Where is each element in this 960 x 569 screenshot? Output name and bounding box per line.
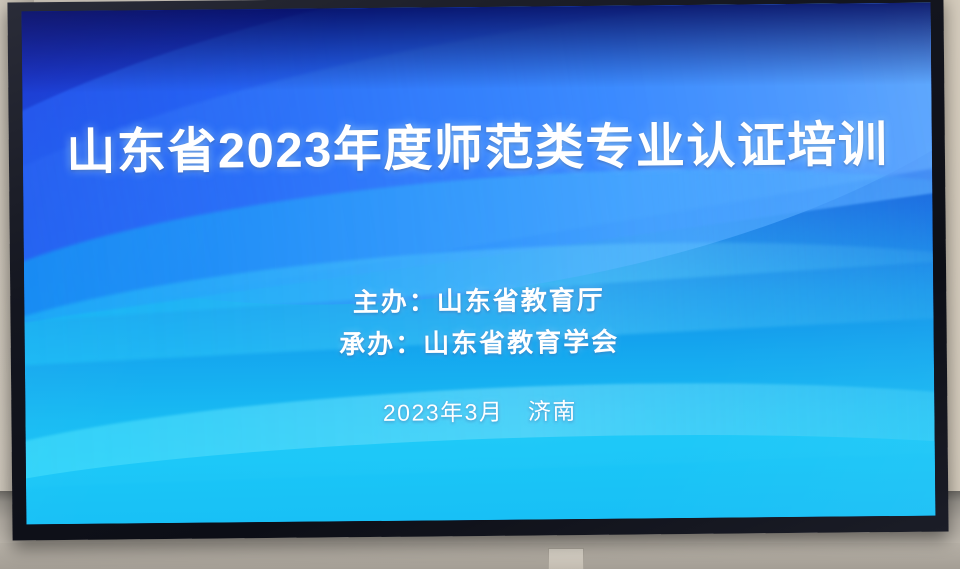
slide-content: 山东省2023年度师范类专业认证培训 主办：山东省教育厅 承办：山东省教育学会 … — [22, 3, 936, 525]
slide-title: 山东省2023年度师范类专业认证培训 — [23, 121, 932, 179]
wall-baseboard — [0, 543, 960, 569]
wall-outlet — [548, 548, 584, 569]
organizer-line: 主办：山东省教育厅 — [24, 277, 933, 323]
display-bezel: 山东省2023年度师范类专业认证培训 主办：山东省教育厅 承办：山东省教育学会 … — [7, 0, 948, 540]
display-screen[interactable]: 山东省2023年度师范类专业认证培训 主办：山东省教育厅 承办：山东省教育学会 … — [22, 3, 936, 525]
date-location-line: 2023年3月 济南 — [25, 389, 934, 432]
co-organizer-line: 承办：山东省教育学会 — [25, 319, 934, 365]
presentation-slide: 山东省2023年度师范类专业认证培训 主办：山东省教育厅 承办：山东省教育学会 … — [22, 3, 936, 525]
